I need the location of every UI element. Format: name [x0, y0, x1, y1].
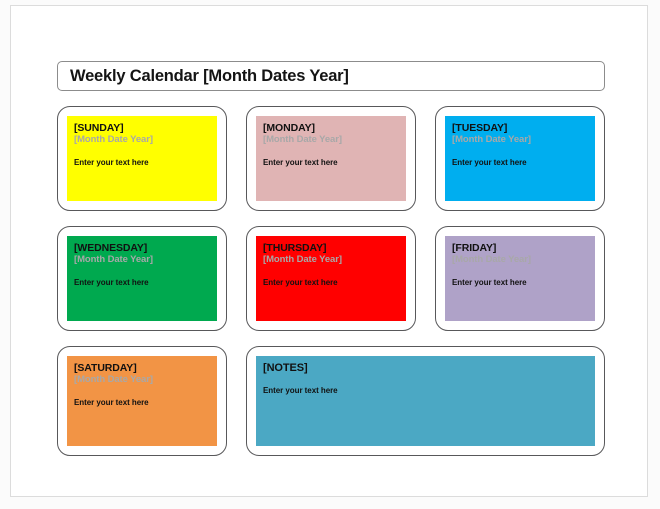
card-day-label-wednesday: [WEDNESDAY]	[74, 242, 217, 254]
card-body-text-notes[interactable]: Enter your text here	[263, 386, 595, 395]
card-fill-saturday[interactable]: [SATURDAY][Month Date Year]Enter your te…	[67, 356, 217, 446]
calendar-title-box[interactable]: Weekly Calendar [Month Dates Year]	[57, 61, 605, 91]
page-backdrop: Weekly Calendar [Month Dates Year] [SUND…	[0, 0, 660, 509]
card-body-text-thursday[interactable]: Enter your text here	[263, 278, 406, 287]
card-date-label-friday[interactable]: [Month Date Year]	[452, 254, 595, 265]
card-day-label-thursday: [THURSDAY]	[263, 242, 406, 254]
calendar-card-wednesday[interactable]: [WEDNESDAY][Month Date Year]Enter your t…	[57, 226, 227, 331]
card-fill-sunday[interactable]: [SUNDAY][Month Date Year]Enter your text…	[67, 116, 217, 201]
card-date-label-wednesday[interactable]: [Month Date Year]	[74, 254, 217, 265]
card-date-label-tuesday[interactable]: [Month Date Year]	[452, 134, 595, 145]
card-fill-wednesday[interactable]: [WEDNESDAY][Month Date Year]Enter your t…	[67, 236, 217, 321]
card-day-label-saturday: [SATURDAY]	[74, 362, 217, 374]
card-body-text-saturday[interactable]: Enter your text here	[74, 398, 217, 407]
card-day-label-tuesday: [TUESDAY]	[452, 122, 595, 134]
card-date-label-sunday[interactable]: [Month Date Year]	[74, 134, 217, 145]
calendar-grid: [SUNDAY][Month Date Year]Enter your text…	[57, 106, 605, 461]
card-date-label-monday[interactable]: [Month Date Year]	[263, 134, 406, 145]
card-day-label-monday: [MONDAY]	[263, 122, 406, 134]
card-fill-monday[interactable]: [MONDAY][Month Date Year]Enter your text…	[256, 116, 406, 201]
calendar-card-saturday[interactable]: [SATURDAY][Month Date Year]Enter your te…	[57, 346, 227, 456]
card-body-text-wednesday[interactable]: Enter your text here	[74, 278, 217, 287]
card-body-text-monday[interactable]: Enter your text here	[263, 158, 406, 167]
card-date-label-thursday[interactable]: [Month Date Year]	[263, 254, 406, 265]
calendar-card-sunday[interactable]: [SUNDAY][Month Date Year]Enter your text…	[57, 106, 227, 211]
card-fill-thursday[interactable]: [THURSDAY][Month Date Year]Enter your te…	[256, 236, 406, 321]
page-title: Weekly Calendar [Month Dates Year]	[70, 67, 349, 86]
calendar-card-tuesday[interactable]: [TUESDAY][Month Date Year]Enter your tex…	[435, 106, 605, 211]
calendar-card-friday[interactable]: [FRIDAY][Month Date Year]Enter your text…	[435, 226, 605, 331]
card-fill-friday[interactable]: [FRIDAY][Month Date Year]Enter your text…	[445, 236, 595, 321]
card-date-label-saturday[interactable]: [Month Date Year]	[74, 374, 217, 385]
card-fill-tuesday[interactable]: [TUESDAY][Month Date Year]Enter your tex…	[445, 116, 595, 201]
card-day-label-notes: [NOTES]	[263, 362, 595, 375]
card-day-label-sunday: [SUNDAY]	[74, 122, 217, 134]
calendar-card-thursday[interactable]: [THURSDAY][Month Date Year]Enter your te…	[246, 226, 416, 331]
card-body-text-sunday[interactable]: Enter your text here	[74, 158, 217, 167]
document-sheet: Weekly Calendar [Month Dates Year] [SUND…	[10, 5, 648, 497]
card-body-text-tuesday[interactable]: Enter your text here	[452, 158, 595, 167]
card-fill-notes[interactable]: [NOTES]Enter your text here	[256, 356, 595, 446]
card-body-text-friday[interactable]: Enter your text here	[452, 278, 595, 287]
calendar-card-monday[interactable]: [MONDAY][Month Date Year]Enter your text…	[246, 106, 416, 211]
card-day-label-friday: [FRIDAY]	[452, 242, 595, 254]
calendar-card-notes[interactable]: [NOTES]Enter your text here	[246, 346, 605, 456]
